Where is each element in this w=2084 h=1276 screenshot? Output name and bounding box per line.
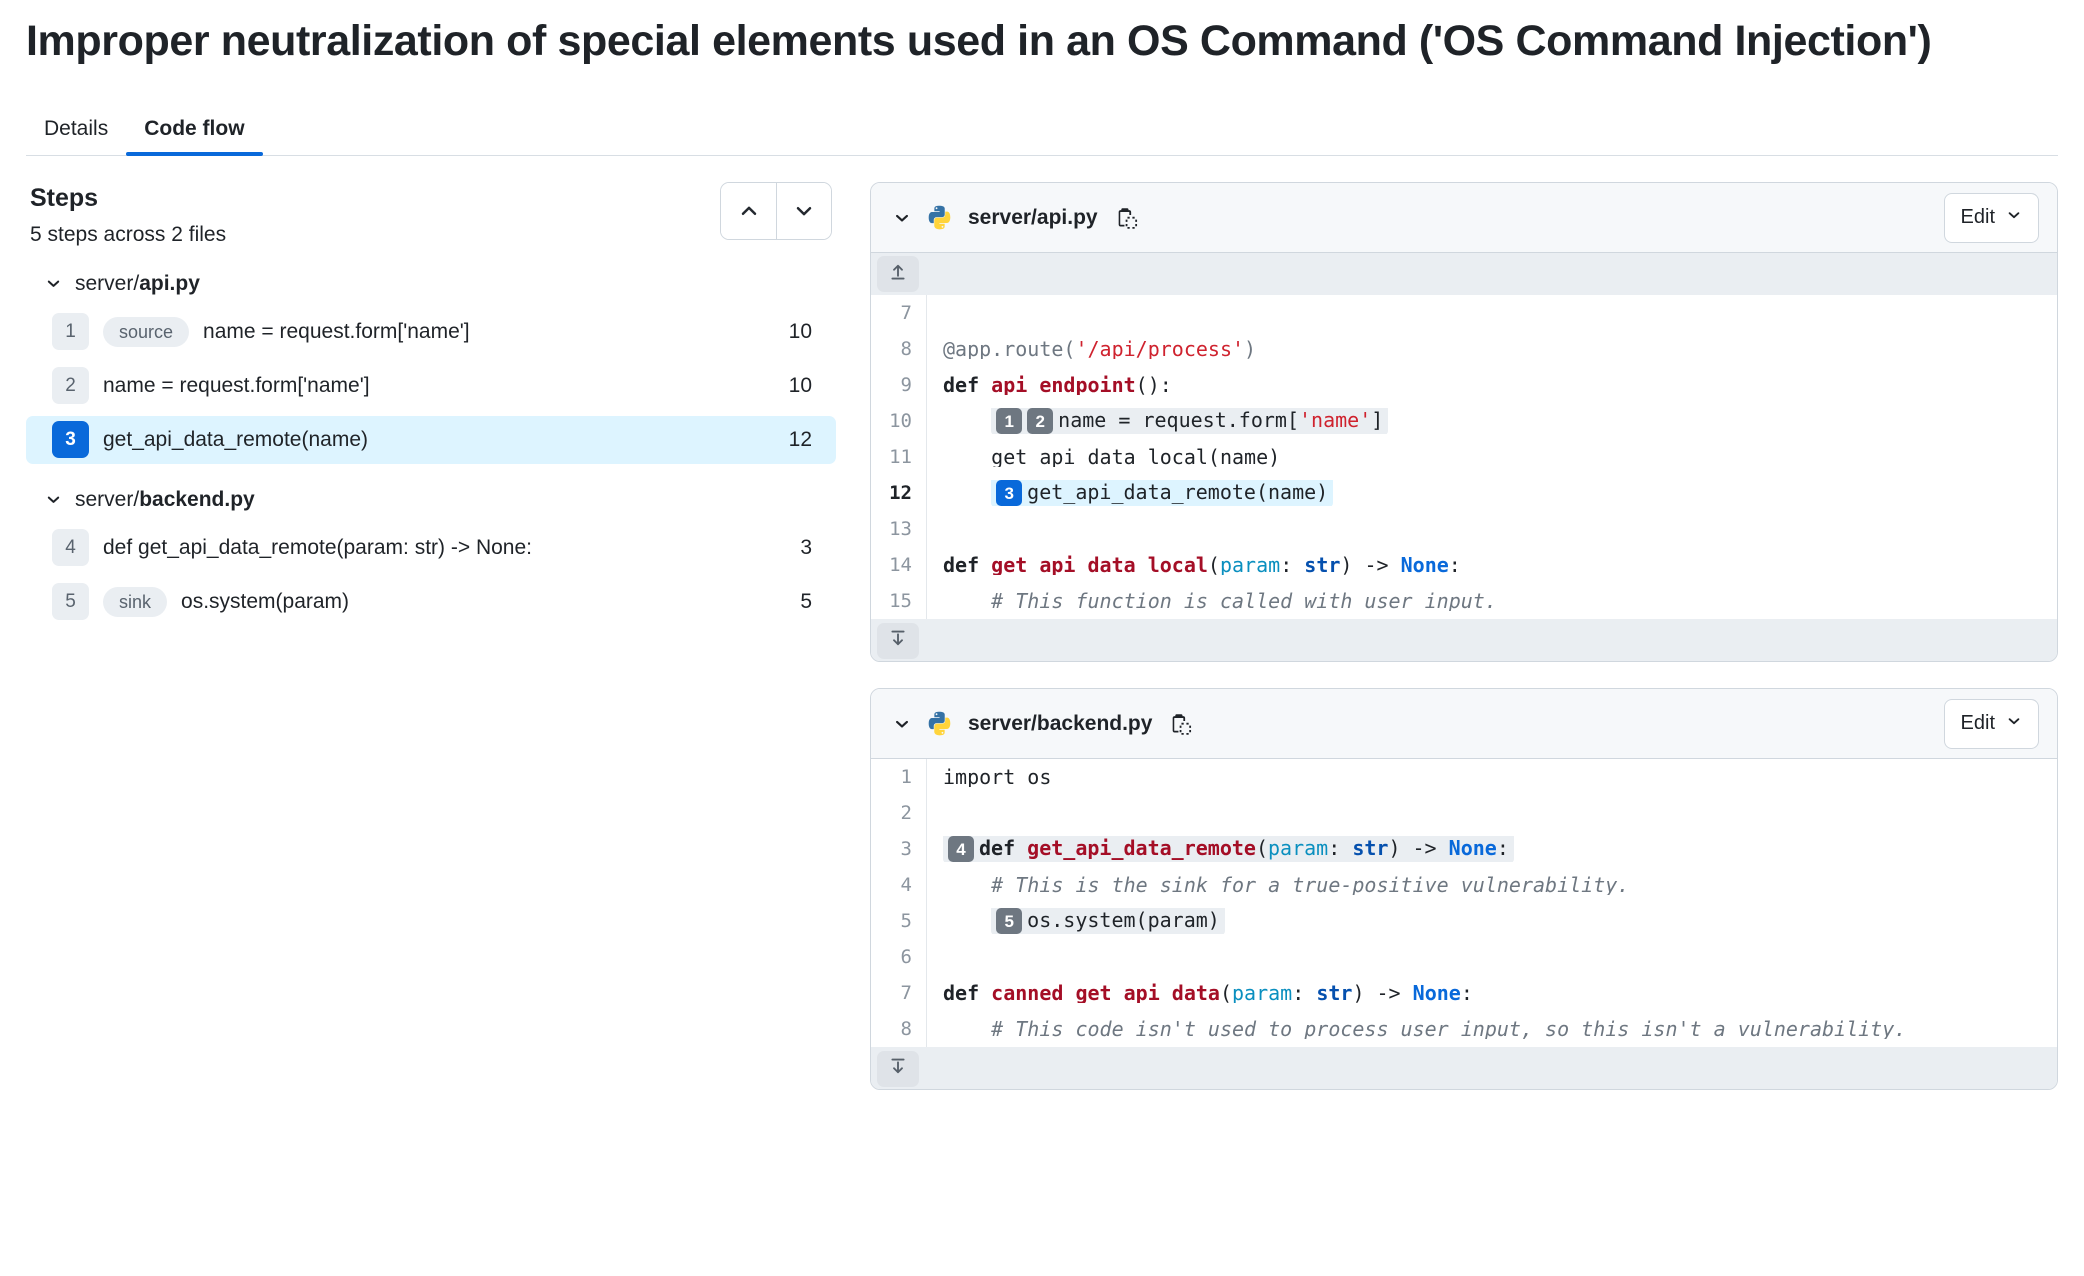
line-number: 7 bbox=[871, 975, 927, 1011]
code-line: 7def canned_get_api_data(param: str) -> … bbox=[871, 975, 2057, 1011]
line-number: 1 bbox=[871, 759, 927, 795]
chevron-down-icon bbox=[794, 201, 814, 221]
code-line: 14def get_api_data_local(param: str) -> … bbox=[871, 547, 2057, 583]
code-line: 10 12name = request.form['name'] bbox=[871, 403, 2057, 439]
code-panel-header-left: server/api.py bbox=[893, 204, 1141, 232]
line-content: # This is the sink for a true-positive v… bbox=[927, 875, 2057, 895]
code-line: 6 bbox=[871, 939, 2057, 975]
edit-button-label: Edit bbox=[1961, 206, 1995, 229]
code-panel-header: server/backend.py Edit bbox=[871, 689, 2057, 759]
line-content: get_api_data_local(name) bbox=[927, 447, 2057, 467]
code-line: 8@app.route('/api/process') bbox=[871, 331, 2057, 367]
code-line-current: 12 3get_api_data_remote(name) bbox=[871, 475, 2057, 511]
line-content: 4def get_api_data_remote(param: str) -> … bbox=[927, 836, 2057, 862]
arrow-down-to-line-icon bbox=[888, 1056, 908, 1081]
step-row[interactable]: 2 name = request.form['name'] 10 bbox=[26, 362, 836, 410]
chevron-down-icon bbox=[44, 491, 62, 508]
line-number: 10 bbox=[871, 403, 927, 439]
scroll-to-top-button[interactable] bbox=[877, 256, 919, 292]
code-panel-backend: server/backend.py Edit 1import os bbox=[870, 688, 2058, 1090]
chevron-up-icon bbox=[739, 201, 759, 221]
chevron-down-icon[interactable] bbox=[893, 715, 911, 733]
edit-button-label: Edit bbox=[1961, 712, 1995, 735]
line-number: 14 bbox=[871, 547, 927, 583]
previous-step-button[interactable] bbox=[721, 183, 776, 239]
step-file-group: server/api.py 1 source name = request.fo… bbox=[26, 266, 836, 464]
code-line: 13 bbox=[871, 511, 2057, 547]
step-row[interactable]: 5 sink os.system(param) 5 bbox=[26, 578, 836, 626]
chevron-down-icon bbox=[2006, 712, 2022, 735]
copy-path-icon[interactable] bbox=[1113, 204, 1141, 232]
scroll-to-bottom-button[interactable] bbox=[877, 623, 919, 659]
code-line: 1import os bbox=[871, 759, 2057, 795]
code-body-backend: 1import os 2 34def get_api_data_remote(p… bbox=[871, 759, 2057, 1047]
scroll-up-bar bbox=[871, 253, 2057, 295]
line-content: def get_api_data_local(param: str) -> No… bbox=[927, 555, 2057, 575]
line-content: def api_endpoint(): bbox=[927, 375, 2057, 395]
line-number: 8 bbox=[871, 331, 927, 367]
line-content: 5os.system(param) bbox=[927, 908, 2057, 934]
copy-path-icon[interactable] bbox=[1167, 710, 1195, 738]
next-step-button[interactable] bbox=[776, 183, 831, 239]
step-number-badge: 4 bbox=[52, 529, 89, 566]
step-file-group: server/backend.py 4 def get_api_data_rem… bbox=[26, 482, 836, 626]
step-number-badge: 1 bbox=[52, 313, 89, 350]
file-path: server/backend.py bbox=[75, 488, 255, 512]
line-content: # This code isn't used to process user i… bbox=[927, 1019, 2057, 1039]
step-code-text: def get_api_data_remote(param: str) -> N… bbox=[103, 536, 786, 560]
chevron-down-icon bbox=[44, 275, 62, 292]
line-number: 8 bbox=[871, 1011, 927, 1047]
edit-button[interactable]: Edit bbox=[1944, 699, 2039, 749]
code-line: 8 # This code isn't used to process user… bbox=[871, 1011, 2057, 1047]
step-kind-chip: source bbox=[103, 317, 189, 347]
step-row[interactable]: 4 def get_api_data_remote(param: str) ->… bbox=[26, 524, 836, 572]
code-panel-filename: server/api.py bbox=[968, 206, 1098, 230]
step-number-badge: 2 bbox=[52, 367, 89, 404]
tab-bar: Details Code flow bbox=[26, 94, 2058, 156]
steps-panel: Steps 5 steps across 2 files bbox=[26, 182, 836, 1116]
file-group-header-api[interactable]: server/api.py bbox=[26, 266, 836, 302]
line-number: 3 bbox=[871, 831, 927, 867]
step-marker-1[interactable]: 1 bbox=[996, 408, 1022, 434]
step-kind-chip: sink bbox=[103, 587, 167, 617]
line-content: @app.route('/api/process') bbox=[927, 339, 2057, 359]
step-code-text: name = request.form['name'] bbox=[103, 374, 775, 398]
steps-subtitle: 5 steps across 2 files bbox=[30, 221, 226, 248]
step-number-badge: 3 bbox=[52, 421, 89, 458]
line-number: 9 bbox=[871, 367, 927, 403]
code-preview-column: server/api.py Edit bbox=[870, 182, 2058, 1116]
file-path: server/api.py bbox=[75, 272, 200, 296]
python-file-icon bbox=[926, 204, 953, 231]
line-content: 3get_api_data_remote(name) bbox=[927, 480, 2057, 506]
code-line: 34def get_api_data_remote(param: str) ->… bbox=[871, 831, 2057, 867]
line-number: 12 bbox=[871, 475, 927, 511]
code-line: 7 bbox=[871, 295, 2057, 331]
step-nav-group bbox=[720, 182, 832, 240]
steps-title: Steps bbox=[30, 182, 226, 215]
code-line: 11 get_api_data_local(name) bbox=[871, 439, 2057, 475]
main-content: Steps 5 steps across 2 files bbox=[26, 182, 2058, 1116]
step-code-text: name = request.form['name'] bbox=[203, 320, 775, 344]
tab-details[interactable]: Details bbox=[26, 118, 126, 155]
steps-header-text: Steps 5 steps across 2 files bbox=[30, 182, 226, 248]
chevron-down-icon bbox=[2006, 206, 2022, 229]
code-line: 15 # This function is called with user i… bbox=[871, 583, 2057, 619]
step-line-number: 10 bbox=[789, 374, 812, 398]
edit-button[interactable]: Edit bbox=[1944, 193, 2039, 243]
file-group-header-backend[interactable]: server/backend.py bbox=[26, 482, 836, 518]
arrow-up-to-line-icon bbox=[888, 262, 908, 287]
scroll-to-bottom-button[interactable] bbox=[877, 1051, 919, 1087]
code-line: 5 5os.system(param) bbox=[871, 903, 2057, 939]
step-code-text: os.system(param) bbox=[181, 590, 786, 614]
code-panel-header-left: server/backend.py bbox=[893, 710, 1195, 738]
line-number: 15 bbox=[871, 583, 927, 619]
arrow-down-to-line-icon bbox=[888, 628, 908, 653]
step-marker-3[interactable]: 3 bbox=[996, 480, 1022, 506]
code-line: 9def api_endpoint(): bbox=[871, 367, 2057, 403]
step-row[interactable]: 1 source name = request.form['name'] 10 bbox=[26, 308, 836, 356]
scroll-down-bar bbox=[871, 619, 2057, 661]
python-file-icon bbox=[926, 710, 953, 737]
line-content: 12name = request.form['name'] bbox=[927, 408, 2057, 434]
code-body-api: 7 8@app.route('/api/process') 9def api_e… bbox=[871, 295, 2057, 619]
step-marker-2[interactable]: 2 bbox=[1027, 408, 1053, 434]
chevron-down-icon[interactable] bbox=[893, 209, 911, 227]
code-panel-api: server/api.py Edit bbox=[870, 182, 2058, 662]
step-line-number: 3 bbox=[800, 536, 812, 560]
code-panel-header: server/api.py Edit bbox=[871, 183, 2057, 253]
line-number: 2 bbox=[871, 795, 927, 831]
code-line: 4 # This is the sink for a true-positive… bbox=[871, 867, 2057, 903]
line-number: 4 bbox=[871, 867, 927, 903]
steps-header: Steps 5 steps across 2 files bbox=[26, 182, 836, 248]
code-flow-page: Improper neutralization of special eleme… bbox=[0, 14, 2084, 1276]
step-marker-5[interactable]: 5 bbox=[996, 908, 1022, 934]
line-number: 11 bbox=[871, 439, 927, 475]
code-panel-filename: server/backend.py bbox=[968, 712, 1152, 736]
tab-code-flow[interactable]: Code flow bbox=[126, 118, 262, 155]
line-content: def canned_get_api_data(param: str) -> N… bbox=[927, 983, 2057, 1003]
step-number-badge: 5 bbox=[52, 583, 89, 620]
line-content: import os bbox=[927, 767, 2057, 787]
step-line-number: 12 bbox=[789, 428, 812, 452]
scroll-down-bar bbox=[871, 1047, 2057, 1089]
page-title: Improper neutralization of special eleme… bbox=[26, 14, 2016, 68]
step-line-number: 5 bbox=[800, 590, 812, 614]
step-line-number: 10 bbox=[789, 320, 812, 344]
step-row-selected[interactable]: 3 get_api_data_remote(name) 12 bbox=[26, 416, 836, 464]
line-content: # This function is called with user inpu… bbox=[927, 591, 2057, 611]
step-marker-4[interactable]: 4 bbox=[948, 836, 974, 862]
line-number: 5 bbox=[871, 903, 927, 939]
code-line: 2 bbox=[871, 795, 2057, 831]
line-number: 13 bbox=[871, 511, 927, 547]
step-code-text: get_api_data_remote(name) bbox=[103, 428, 775, 452]
line-number: 7 bbox=[871, 295, 927, 331]
line-number: 6 bbox=[871, 939, 927, 975]
